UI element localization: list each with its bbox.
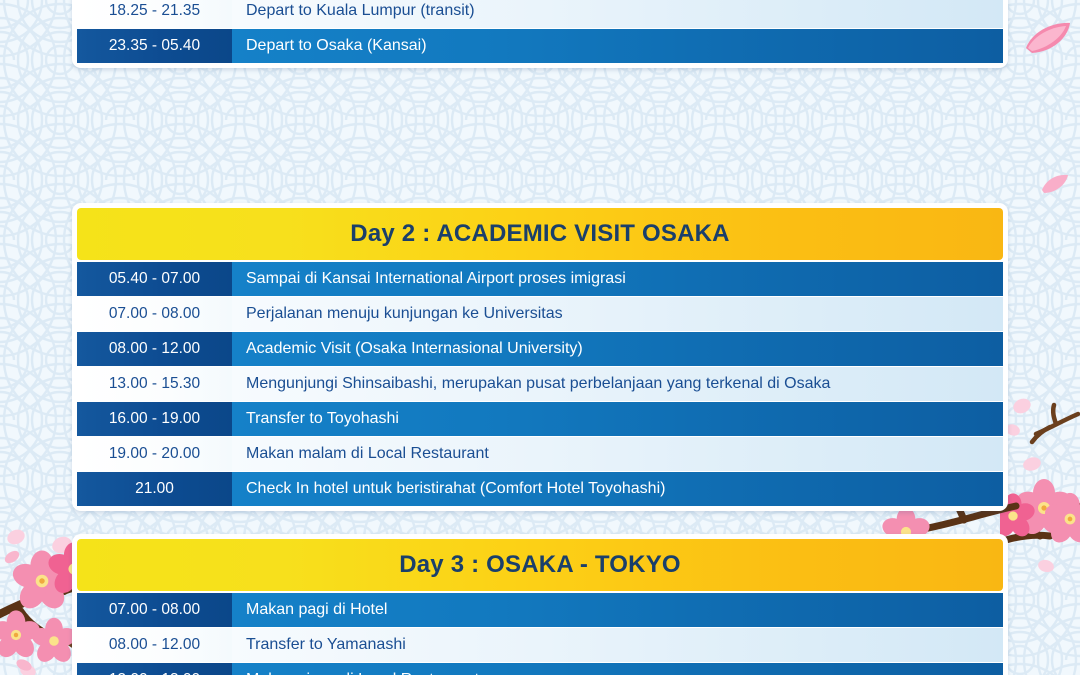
schedule-row: 05.40 - 07.00Sampai di Kansai Internatio… xyxy=(77,262,1003,296)
schedule-time: 08.00 - 12.00 xyxy=(77,628,232,662)
schedule-time: 23.35 - 05.40 xyxy=(77,29,232,63)
schedule-description: Perjalanan menuju kunjungan ke Universit… xyxy=(232,297,1003,331)
schedule-time: 19.00 - 20.00 xyxy=(77,437,232,471)
schedule-rows: 07.00 - 08.00Makan pagi di Hotel08.00 - … xyxy=(77,593,1003,675)
day-header: Day 2 : ACADEMIC VISIT OSAKA xyxy=(77,208,1003,260)
schedule-description: Makan pagi di Hotel xyxy=(232,593,1003,627)
schedule-time: 21.00 xyxy=(77,472,232,506)
day-card: Day 2 : ACADEMIC VISIT OSAKA05.40 - 07.0… xyxy=(72,203,1008,511)
schedule-row: 12.00 - 13.00Makan siang di Local Restau… xyxy=(77,663,1003,675)
schedule-description: Makan siang di Local Restaurant xyxy=(232,663,1003,675)
schedule-description: Depart to Osaka (Kansai) xyxy=(232,29,1003,63)
schedule-description: Transfer to Yamanashi xyxy=(232,628,1003,662)
schedule-row: 13.00 - 15.30Mengunjungi Shinsaibashi, m… xyxy=(77,367,1003,401)
schedule-row: 08.00 - 12.00Transfer to Yamanashi xyxy=(77,628,1003,662)
schedule-row: 18.25 - 21.35Depart to Kuala Lumpur (tra… xyxy=(77,0,1003,28)
itinerary-page: Day 1 : DEPARTURE07:00Meeting Point at U… xyxy=(0,0,1080,675)
schedule-row: 21.00Check In hotel untuk beristirahat (… xyxy=(77,472,1003,506)
schedule-description: Makan malam di Local Restaurant xyxy=(232,437,1003,471)
day-card: Day 3 : OSAKA - TOKYO07.00 - 08.00Makan … xyxy=(72,534,1008,675)
schedule-description: Sampai di Kansai International Airport p… xyxy=(232,262,1003,296)
schedule-time: 05.40 - 07.00 xyxy=(77,262,232,296)
day-header: Day 3 : OSAKA - TOKYO xyxy=(77,539,1003,591)
schedule-time: 13.00 - 15.30 xyxy=(77,367,232,401)
schedule-description: Mengunjungi Shinsaibashi, merupakan pusa… xyxy=(232,367,1003,401)
schedule-time: 07.00 - 08.00 xyxy=(77,297,232,331)
schedule-description: Depart to Kuala Lumpur (transit) xyxy=(232,0,1003,28)
schedule-row: 07.00 - 08.00Makan pagi di Hotel xyxy=(77,593,1003,627)
schedule-time: 18.25 - 21.35 xyxy=(77,0,232,28)
schedule-description: Check In hotel untuk beristirahat (Comfo… xyxy=(232,472,1003,506)
schedule-description: Transfer to Toyohashi xyxy=(232,402,1003,436)
schedule-time: 07.00 - 08.00 xyxy=(77,593,232,627)
schedule-row: 08.00 - 12.00Academic Visit (Osaka Inter… xyxy=(77,332,1003,366)
day-card: Day 1 : DEPARTURE07:00Meeting Point at U… xyxy=(72,0,1008,68)
schedule-rows: 07:00Meeting Point at Udinus08:00Depart … xyxy=(77,0,1003,63)
schedule-row: 16.00 - 19.00Transfer to Toyohashi xyxy=(77,402,1003,436)
schedule-time: 12.00 - 13.00 xyxy=(77,663,232,675)
schedule-row: 07.00 - 08.00Perjalanan menuju kunjungan… xyxy=(77,297,1003,331)
schedule-time: 08.00 - 12.00 xyxy=(77,332,232,366)
schedule-row: 19.00 - 20.00Makan malam di Local Restau… xyxy=(77,437,1003,471)
schedule-description: Academic Visit (Osaka Internasional Univ… xyxy=(232,332,1003,366)
schedule-rows: 05.40 - 07.00Sampai di Kansai Internatio… xyxy=(77,262,1003,506)
schedule-time: 16.00 - 19.00 xyxy=(77,402,232,436)
schedule-row: 23.35 - 05.40Depart to Osaka (Kansai) xyxy=(77,29,1003,63)
